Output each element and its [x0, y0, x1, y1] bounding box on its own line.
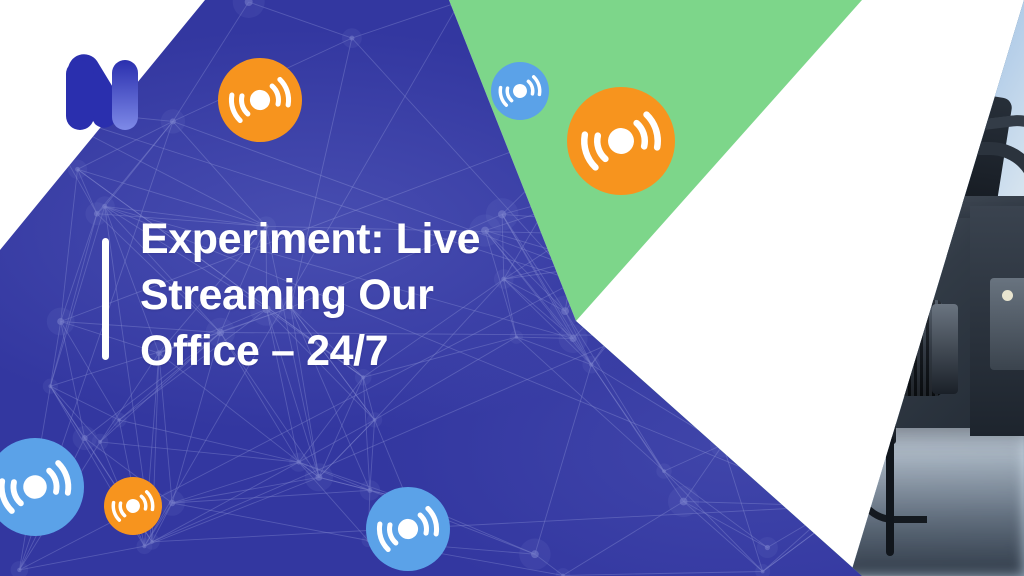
- broadcast-signal-icon: [218, 58, 302, 142]
- title-accent-bar: [102, 238, 109, 360]
- promo-banner: Experiment: Live Streaming Our Office – …: [0, 0, 1024, 576]
- broadcast-signal-icon: [0, 438, 84, 536]
- broadcast-signal-icon: [104, 477, 162, 535]
- broadcast-signal-icon: [491, 62, 549, 120]
- page-title: Experiment: Live Streaming Our Office – …: [140, 212, 610, 380]
- broadcast-signal-icon: [567, 87, 675, 195]
- n-logo-icon: [64, 50, 140, 132]
- brand-logo[interactable]: [64, 50, 140, 132]
- broadcast-signal-icon: [366, 487, 450, 571]
